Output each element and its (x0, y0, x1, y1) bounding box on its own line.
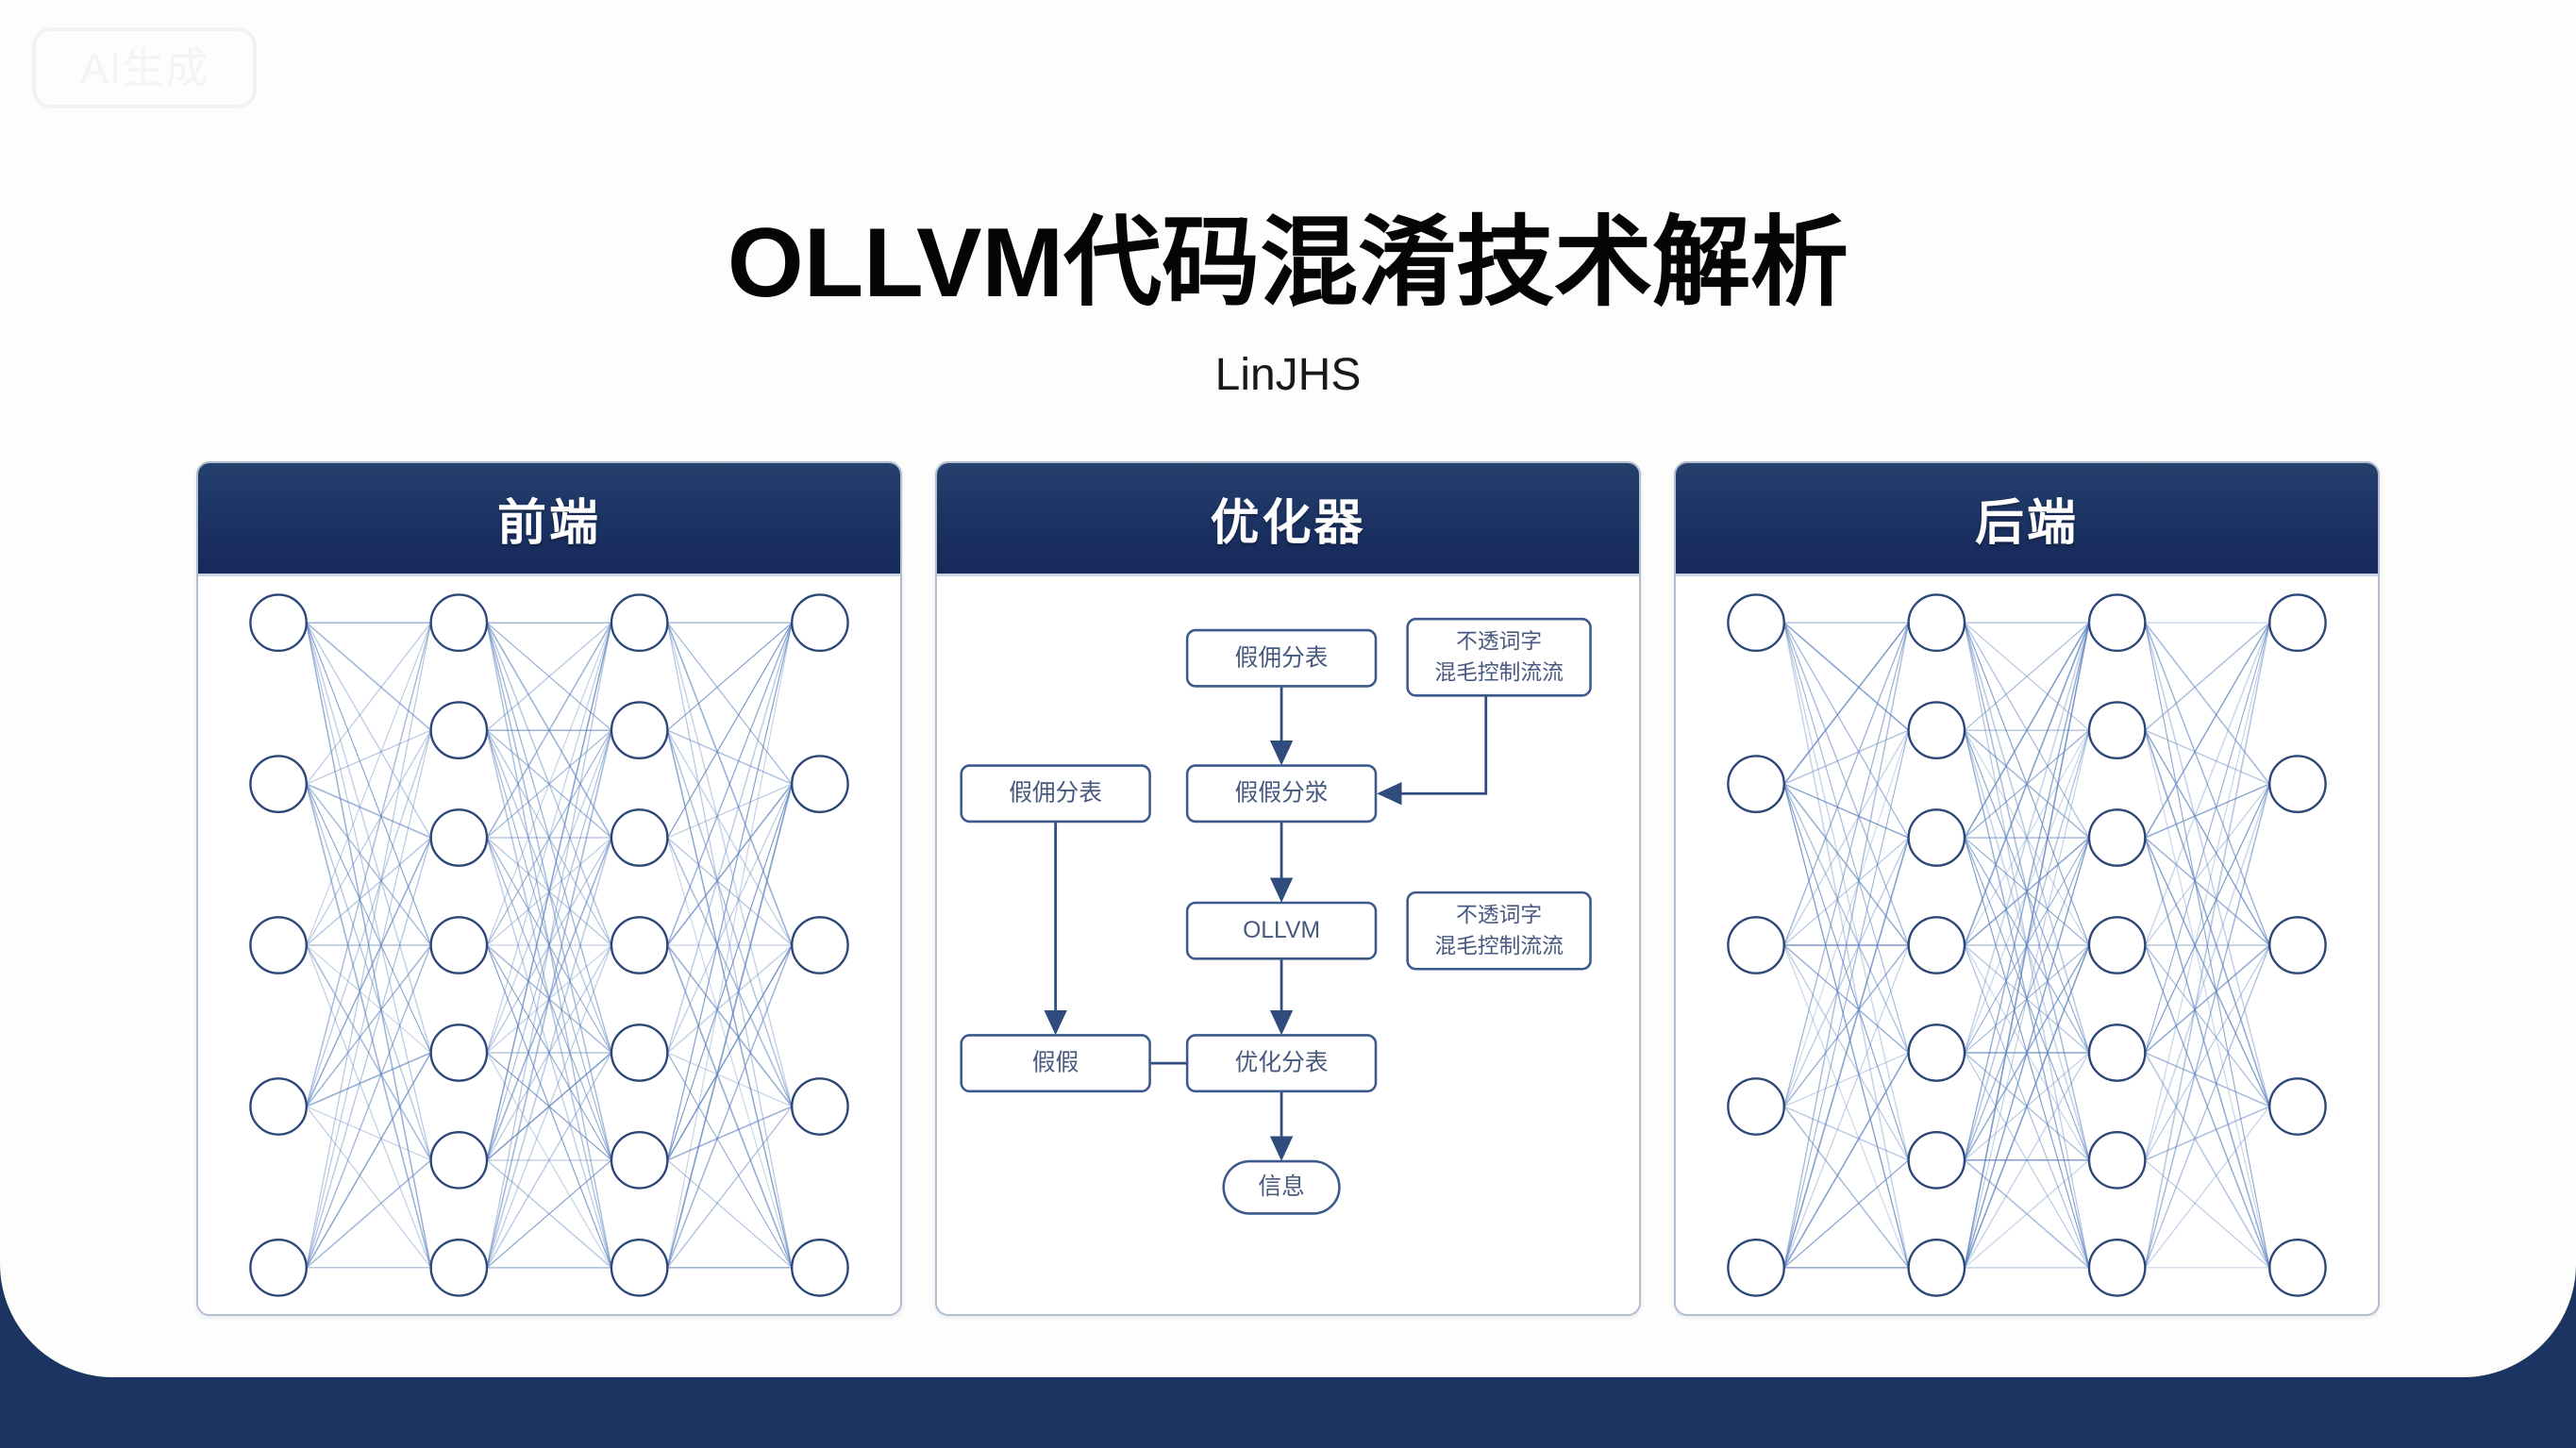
nn-edge (667, 784, 792, 1268)
nn-edge (1784, 623, 1909, 838)
panel-optimizer[interactable]: 优化器 假佣分表不透词字混毛控制流流假佣分表假假分泶OLLVM不透词字混毛控制流… (935, 461, 1641, 1316)
nn-node (250, 756, 306, 811)
nn-node (1728, 594, 1783, 650)
nn-node (1909, 1024, 1965, 1080)
nn-node (611, 1240, 667, 1295)
nn-node (2089, 1240, 2145, 1295)
nn-node (250, 1240, 306, 1295)
nn-node (431, 1240, 487, 1295)
nn-node (2269, 756, 2325, 811)
nn-edge (1784, 838, 1909, 945)
nn-edge (1784, 623, 1909, 730)
nn-node (1728, 1240, 1783, 1295)
flowchart-node-label: 假假分泶 (1235, 780, 1329, 807)
nn-edge (307, 730, 431, 945)
nn-edge (667, 623, 792, 730)
nn-node (1728, 917, 1783, 973)
nn-edge (2145, 1053, 2269, 1268)
nn-node (1728, 756, 1783, 811)
nn-edge (2145, 784, 2269, 1268)
page-title: OLLVM代码混淆技术解析 (0, 209, 2576, 317)
nn-node (2089, 917, 2145, 973)
nn-edge (2145, 784, 2269, 945)
nn-edge (1784, 1160, 1909, 1268)
panel-frontend-title: 前端 (198, 463, 900, 576)
nn-edge (667, 945, 792, 1160)
nn-edge (307, 623, 431, 838)
nn-edge (667, 784, 792, 1053)
nn-node (431, 594, 487, 650)
nn-edges-backend (1784, 623, 2269, 1268)
nn-node (611, 702, 667, 757)
nn-edge (2145, 623, 2269, 838)
nn-node (2089, 1024, 2145, 1080)
flowchart-node-label: OLLVM (1243, 918, 1320, 943)
nn-edge (2145, 730, 2269, 784)
nn-node (611, 1132, 667, 1188)
nn-edge (2145, 1160, 2269, 1268)
nn-node (2269, 917, 2325, 973)
nn-node (431, 702, 487, 757)
nn-node (1909, 809, 1965, 865)
nn-edge (307, 1053, 431, 1268)
nn-node (611, 594, 667, 650)
nn-node (250, 1078, 306, 1134)
nn-node (2089, 594, 2145, 650)
nn-node (1909, 917, 1965, 973)
nn-edge (1784, 838, 1909, 1107)
nn-edge (667, 623, 792, 1053)
nn-edge (667, 730, 792, 784)
panel-backend[interactable]: 后端 (1674, 461, 2380, 1316)
nn-edge (307, 1107, 431, 1160)
panel-backend-title: 后端 (1676, 463, 2378, 576)
panel-frontend-body (198, 576, 900, 1314)
nn-edge (667, 1107, 792, 1160)
flowchart-node-label: 不透词字 (1456, 902, 1542, 926)
panels-row: 前端 优化器 假佣分表不透词字混毛控制流流假佣分表假假分泶OLLVM不透词字混毛… (196, 461, 2380, 1316)
nn-node (250, 917, 306, 973)
nn-edge (1784, 730, 1909, 784)
nn-node (792, 594, 847, 650)
ai-generated-watermark-badge: AI生成 (32, 27, 257, 108)
nn-node (2269, 1240, 2325, 1295)
flowchart-node-label: 信息 (1258, 1173, 1304, 1200)
nn-edges-frontend (307, 623, 792, 1268)
nn-edge (2145, 784, 2269, 1053)
nn-edge (307, 730, 431, 784)
nn-node (1909, 1240, 1965, 1295)
neural-network-diagram-backend (1676, 576, 2378, 1314)
nn-node (611, 1024, 667, 1080)
nn-edge (307, 838, 431, 1268)
ollvm-flowchart: 假佣分表不透词字混毛控制流流假佣分表假假分泶OLLVM不透词字混毛控制流流假假优… (937, 576, 1639, 1314)
flowchart-node-label: 假佣分表 (1009, 780, 1102, 807)
flowchart-node-label: 优化分表 (1235, 1050, 1329, 1076)
nn-node (431, 1024, 487, 1080)
panel-optimizer-title: 优化器 (937, 463, 1639, 576)
nn-edge (307, 838, 431, 1107)
panel-backend-body (1676, 576, 2378, 1314)
panel-optimizer-body: 假佣分表不透词字混毛控制流流假佣分表假假分泶OLLVM不透词字混毛控制流流假假优… (937, 576, 1639, 1314)
nn-node (1909, 702, 1965, 757)
nn-edge (1784, 730, 1909, 945)
nn-node (250, 594, 306, 650)
nn-edge (307, 945, 431, 1107)
nn-edge (307, 1160, 431, 1268)
nn-node (2269, 594, 2325, 650)
neural-network-diagram-frontend (198, 576, 900, 1314)
nn-edge (2145, 784, 2269, 1160)
nn-node (1728, 1078, 1783, 1134)
nn-edge (667, 1160, 792, 1268)
nn-edge (1784, 1053, 1909, 1268)
nn-edge (667, 623, 792, 838)
nn-edge (2145, 623, 2269, 1053)
nn-edge (1784, 623, 1909, 1107)
flowchart-node-label: 假假 (1032, 1050, 1079, 1076)
nn-node (2089, 1132, 2145, 1188)
nn-node (792, 1240, 847, 1295)
nn-node (611, 809, 667, 865)
nn-edge (307, 623, 431, 1107)
nn-node (2269, 1078, 2325, 1134)
nn-node (431, 917, 487, 973)
nn-edge (667, 784, 792, 1160)
nn-edge (2145, 1107, 2269, 1160)
nn-edge (2145, 945, 2269, 1160)
flowchart-node-label: 混毛控制流流 (1434, 660, 1564, 685)
flowchart-node-label: 混毛控制流流 (1434, 934, 1564, 958)
panel-frontend[interactable]: 前端 (196, 461, 902, 1316)
nn-node (792, 756, 847, 811)
nn-edge (307, 730, 431, 1107)
nn-node (611, 917, 667, 973)
nn-node (1909, 594, 1965, 650)
nn-node (792, 1078, 847, 1134)
nn-node (2089, 809, 2145, 865)
page-subtitle: LinJHS (0, 349, 2576, 401)
ai-watermark-label: AI生成 (80, 47, 209, 90)
flowchart-edge-n2-n4 (1380, 695, 1486, 793)
nn-node (431, 809, 487, 865)
nn-edge (307, 623, 431, 730)
nn-node (792, 917, 847, 973)
flowchart-node-label: 假佣分表 (1235, 644, 1329, 671)
nn-edge (1784, 1107, 1909, 1160)
nn-node (2089, 702, 2145, 757)
nn-node (1909, 1132, 1965, 1188)
flowchart-node-label: 不透词字 (1456, 628, 1542, 653)
nn-edge (2145, 623, 2269, 730)
nn-edge (1784, 838, 1909, 1268)
nn-edge (667, 1053, 792, 1268)
nn-node (431, 1132, 487, 1188)
